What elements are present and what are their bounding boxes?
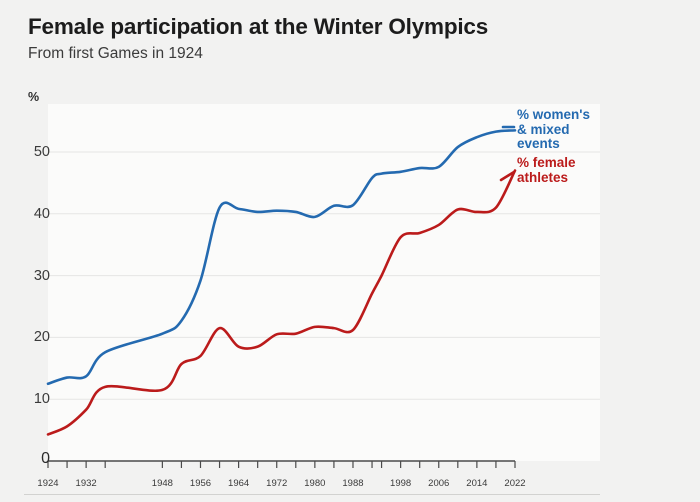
legend-women-events-line3: events	[517, 137, 590, 152]
legend-women-events-line2: & mixed	[517, 123, 590, 138]
y-axis-tick-label: 30	[16, 268, 50, 284]
x-axis-tick-label: 1998	[390, 478, 411, 489]
x-axis-tick-label: 1932	[76, 478, 97, 489]
footer-divider	[24, 494, 600, 495]
x-axis-tick-label: 1988	[342, 478, 363, 489]
y-axis-tick-label: 50	[16, 144, 50, 160]
x-axis-tick-label: 1956	[190, 478, 211, 489]
x-axis-tick-label: 1924	[37, 478, 58, 489]
x-axis-tick-label: 2006	[428, 478, 449, 489]
y-axis-tick-label: 20	[16, 329, 50, 345]
legend-female-athletes-line2: athletes	[517, 171, 576, 186]
y-axis-tick-label: 0	[16, 450, 50, 468]
line-chart-plot	[0, 0, 700, 502]
chart-card: Female participation at the Winter Olymp…	[0, 0, 700, 502]
x-axis-tick-label: 1964	[228, 478, 249, 489]
x-axis-tick-label: 2022	[504, 478, 525, 489]
legend-women-events: % women's & mixed events	[517, 108, 590, 152]
x-axis-tick-label: 1972	[266, 478, 287, 489]
legend-women-events-line1: % women's	[517, 108, 590, 123]
x-axis-tick-label: 1980	[304, 478, 325, 489]
x-axis-tick-label: 2014	[466, 478, 487, 489]
legend-female-athletes: % female athletes	[517, 156, 576, 185]
legend-female-athletes-line1: % female	[517, 156, 576, 171]
x-axis-tick-label: 1948	[152, 478, 173, 489]
y-axis-tick-label: 10	[16, 391, 50, 407]
y-axis-tick-label: 40	[16, 206, 50, 222]
